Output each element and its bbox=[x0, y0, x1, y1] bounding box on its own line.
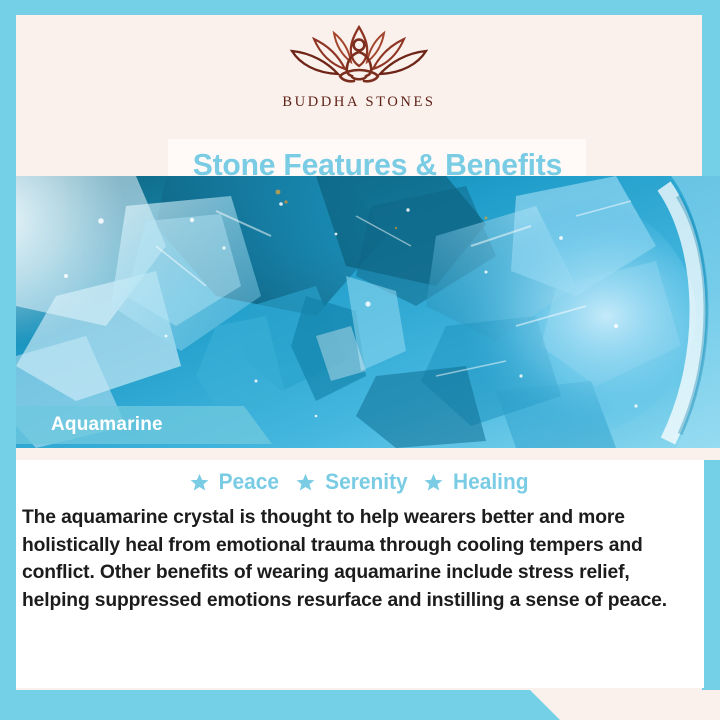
star-icon bbox=[189, 472, 210, 493]
lotus-meditation-icon bbox=[272, 20, 446, 92]
infographic-card: BUDDHA STONES Stone Features & Benefits bbox=[0, 0, 720, 720]
stone-name: Aquamarine bbox=[51, 414, 163, 436]
content-card: Peace Serenity Healing The aquamarine cr… bbox=[16, 460, 704, 688]
keyword-label: Serenity bbox=[325, 469, 407, 495]
description-paragraph: The aquamarine crystal is thought to hel… bbox=[22, 504, 684, 614]
left-accent-band bbox=[0, 15, 16, 720]
keyword-item: Peace bbox=[189, 469, 281, 495]
keyword-label: Peace bbox=[219, 469, 279, 495]
stone-label-chip: Aquamarine bbox=[16, 406, 272, 444]
keyword-row: Peace Serenity Healing bbox=[16, 463, 704, 501]
right-accent-band-lower bbox=[702, 430, 720, 690]
keyword-label: Healing bbox=[453, 469, 528, 495]
bottom-accent-band bbox=[0, 690, 560, 720]
brand-name: BUDDHA STONES bbox=[282, 94, 435, 111]
keyword-item: Healing bbox=[423, 469, 530, 495]
separator-strip bbox=[16, 448, 720, 460]
keyword-item: Serenity bbox=[295, 469, 410, 495]
brand-logo: BUDDHA STONES bbox=[16, 20, 702, 125]
top-accent-band bbox=[0, 0, 720, 15]
header: BUDDHA STONES Stone Features & Benefits bbox=[16, 15, 702, 175]
star-icon bbox=[295, 472, 316, 493]
star-icon bbox=[423, 472, 444, 493]
